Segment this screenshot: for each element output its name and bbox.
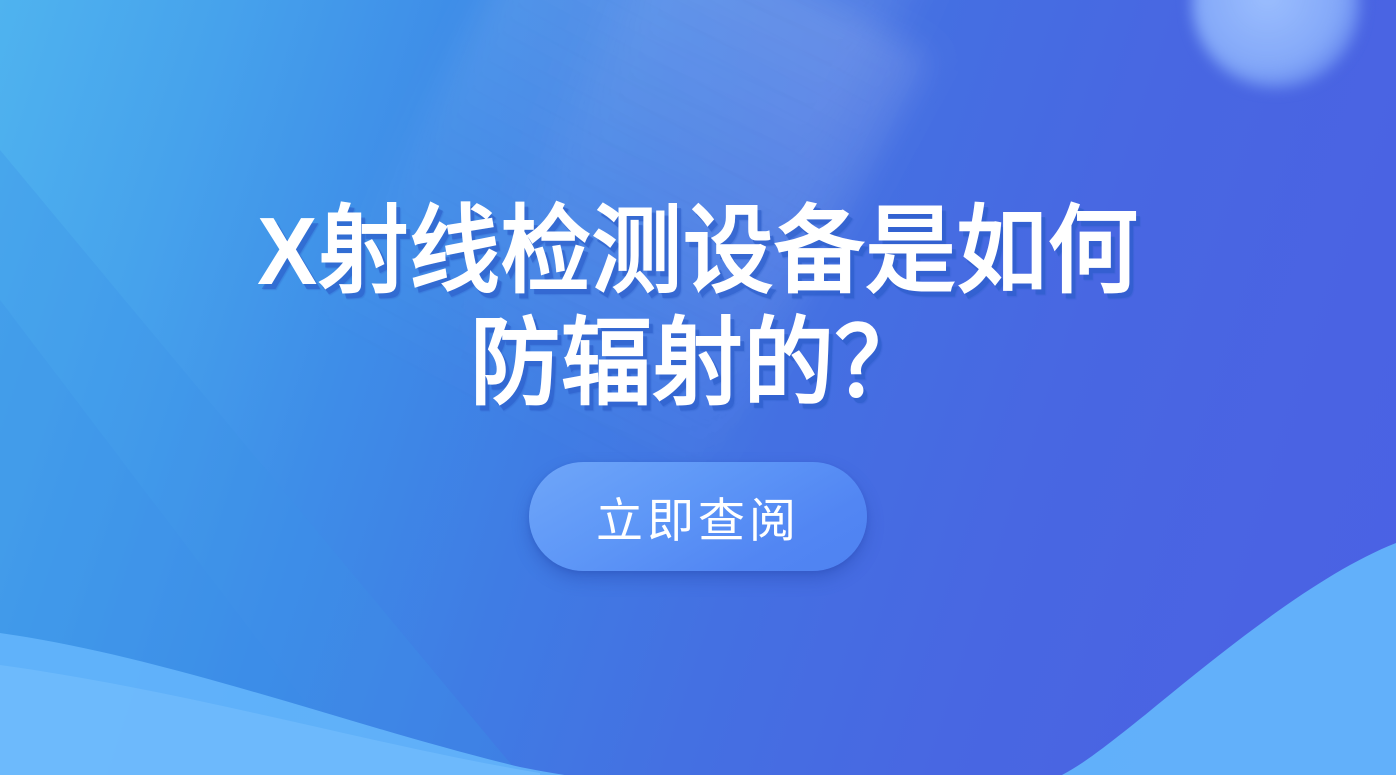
cta-block: 立即查阅: [529, 462, 867, 571]
headline-line-2: 防辐射的？: [257, 308, 1139, 420]
headline-line-1: X射线检测设备是如何: [257, 196, 1139, 308]
promo-banner: X射线检测设备是如何 防辐射的？ 立即查阅: [0, 0, 1396, 775]
banner-content: X射线检测设备是如何 防辐射的？ 立即查阅: [0, 0, 1396, 775]
headline-block: X射线检测设备是如何 防辐射的？: [229, 196, 1167, 420]
page-title: X射线检测设备是如何 防辐射的？: [257, 196, 1139, 420]
view-now-button[interactable]: 立即查阅: [529, 462, 867, 571]
